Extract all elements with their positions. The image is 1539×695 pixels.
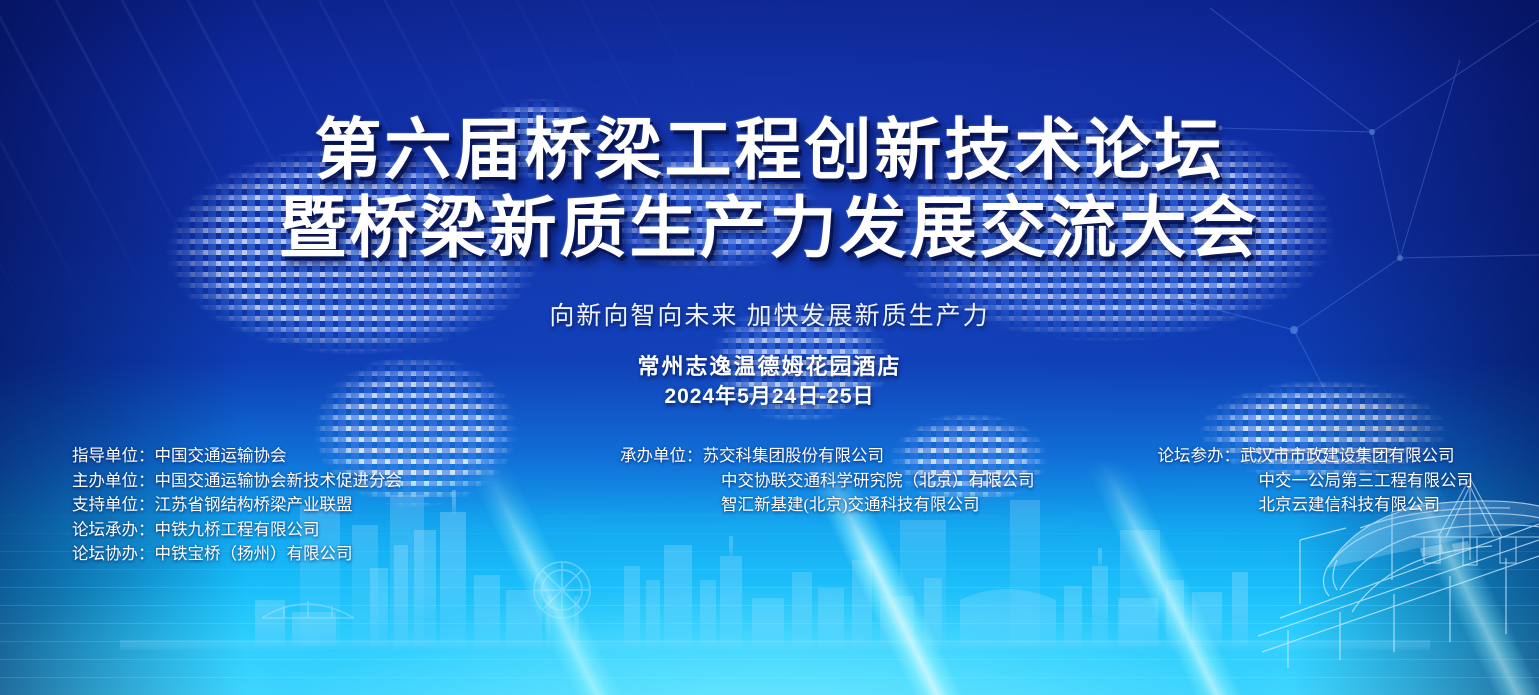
title-block: 第六届桥梁工程创新技术论坛 暨桥梁新质生产力发展交流大会 xyxy=(0,112,1539,268)
org-row: 主办单位：中国交通运输协会新技术促进分会 xyxy=(72,469,402,494)
org-value: 苏交科集团股份有限公司 xyxy=(703,446,885,465)
conference-banner: 第六届桥梁工程创新技术论坛 暨桥梁新质生产力发展交流大会 向新向智向未来 加快发… xyxy=(0,0,1539,695)
organizations-center-column: 承办单位：苏交科集团股份有限公司 中交协联交通科学研究院（北京）有限公司 智汇新… xyxy=(620,444,1035,518)
org-row: 指导单位：中国交通运输协会 xyxy=(72,444,402,469)
org-row: 中交协联交通科学研究院（北京）有限公司 xyxy=(620,469,1035,494)
org-label: 主办单位： xyxy=(72,469,155,494)
org-label: 论坛协办： xyxy=(72,542,155,567)
organizations-section: 指导单位：中国交通运输协会 主办单位：中国交通运输协会新技术促进分会 支持单位：… xyxy=(0,444,1539,584)
org-row: 论坛协办：中铁宝桥（扬州）有限公司 xyxy=(72,542,402,567)
org-row: 论坛参办：武汉市市政建设集团有限公司 xyxy=(1158,444,1474,469)
org-value: 中铁九桥工程有限公司 xyxy=(155,520,320,539)
org-value: 北京云建信科技有限公司 xyxy=(1259,495,1441,514)
org-label: 论坛承办： xyxy=(72,518,155,543)
org-row: 中交一公局第三工程有限公司 xyxy=(1158,469,1474,494)
event-dates: 2024年5月24日-25日 xyxy=(0,382,1539,411)
page-title-line-1: 第六届桥梁工程创新技术论坛 xyxy=(0,112,1539,190)
org-value: 智汇新基建(北京)交通科技有限公司 xyxy=(721,495,980,514)
org-row: 智汇新基建(北京)交通科技有限公司 xyxy=(620,493,1035,518)
venue-block: 常州志逸温德姆花园酒店 2024年5月24日-25日 xyxy=(0,352,1539,411)
org-row: 北京云建信科技有限公司 xyxy=(1158,493,1474,518)
org-row: 承办单位：苏交科集团股份有限公司 xyxy=(620,444,1035,469)
org-label: 支持单位： xyxy=(72,493,155,518)
org-value: 武汉市市政建设集团有限公司 xyxy=(1240,446,1455,465)
org-row: 论坛承办：中铁九桥工程有限公司 xyxy=(72,518,402,543)
org-value: 中交一公局第三工程有限公司 xyxy=(1259,471,1474,490)
venue-name: 常州志逸温德姆花园酒店 xyxy=(0,352,1539,381)
org-value: 中国交通运输协会 xyxy=(155,446,287,465)
org-label: 论坛参办： xyxy=(1158,444,1241,469)
org-row: 支持单位：江苏省钢结构桥梁产业联盟 xyxy=(72,493,402,518)
org-value: 中铁宝桥（扬州）有限公司 xyxy=(155,544,353,563)
org-value: 中国交通运输协会新技术促进分会 xyxy=(155,471,403,490)
org-value: 中交协联交通科学研究院（北京）有限公司 xyxy=(721,471,1035,490)
org-label: 指导单位： xyxy=(72,444,155,469)
organizations-right-column: 论坛参办：武汉市市政建设集团有限公司 中交一公局第三工程有限公司 北京云建信科技… xyxy=(1158,444,1474,518)
org-value: 江苏省钢结构桥梁产业联盟 xyxy=(155,495,353,514)
page-title-line-2: 暨桥梁新质生产力发展交流大会 xyxy=(0,190,1539,268)
org-label: 承办单位： xyxy=(620,444,703,469)
subtitle: 向新向智向未来 加快发展新质生产力 xyxy=(0,296,1539,332)
organizations-left-column: 指导单位：中国交通运输协会 主办单位：中国交通运输协会新技术促进分会 支持单位：… xyxy=(72,444,402,567)
